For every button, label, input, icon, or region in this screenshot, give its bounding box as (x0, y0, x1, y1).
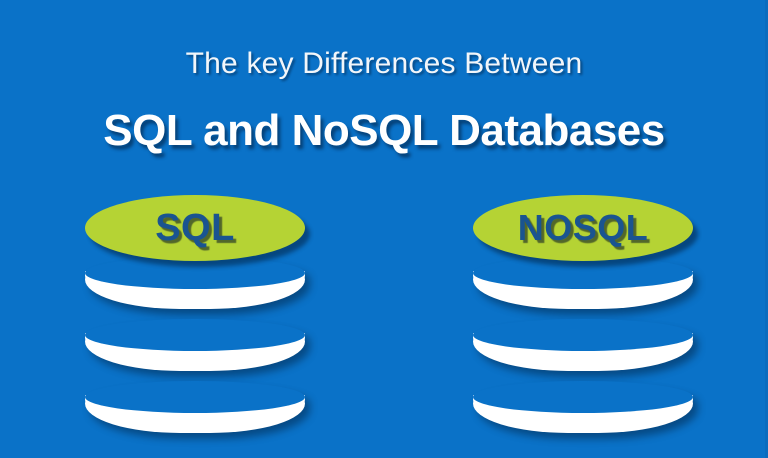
database-band-top-notch (85, 257, 305, 289)
database-band (85, 381, 305, 433)
database-band (85, 257, 305, 309)
database-top-ellipse-sql: SQL (85, 195, 305, 261)
database-band (473, 257, 693, 309)
poster-canvas: The key Differences Between SQL and NoSQ… (0, 0, 768, 458)
database-label-nosql: NOSQL (518, 210, 649, 246)
database-band-top-notch (473, 257, 693, 289)
poster-subtitle: The key Differences Between (0, 47, 768, 81)
database-cylinder-sql: SQL (85, 195, 305, 435)
database-band-top-notch (85, 319, 305, 351)
database-band (473, 381, 693, 433)
database-band-top-notch (473, 319, 693, 351)
database-label-sql: SQL (155, 209, 235, 247)
database-cylinder-nosql: NOSQL (473, 195, 693, 435)
poster-title: SQL and NoSQL Databases (0, 106, 768, 156)
database-band-top-notch (85, 381, 305, 413)
database-top-ellipse-nosql: NOSQL (473, 195, 693, 261)
database-band-top-notch (473, 381, 693, 413)
database-band (85, 319, 305, 371)
database-band (473, 319, 693, 371)
